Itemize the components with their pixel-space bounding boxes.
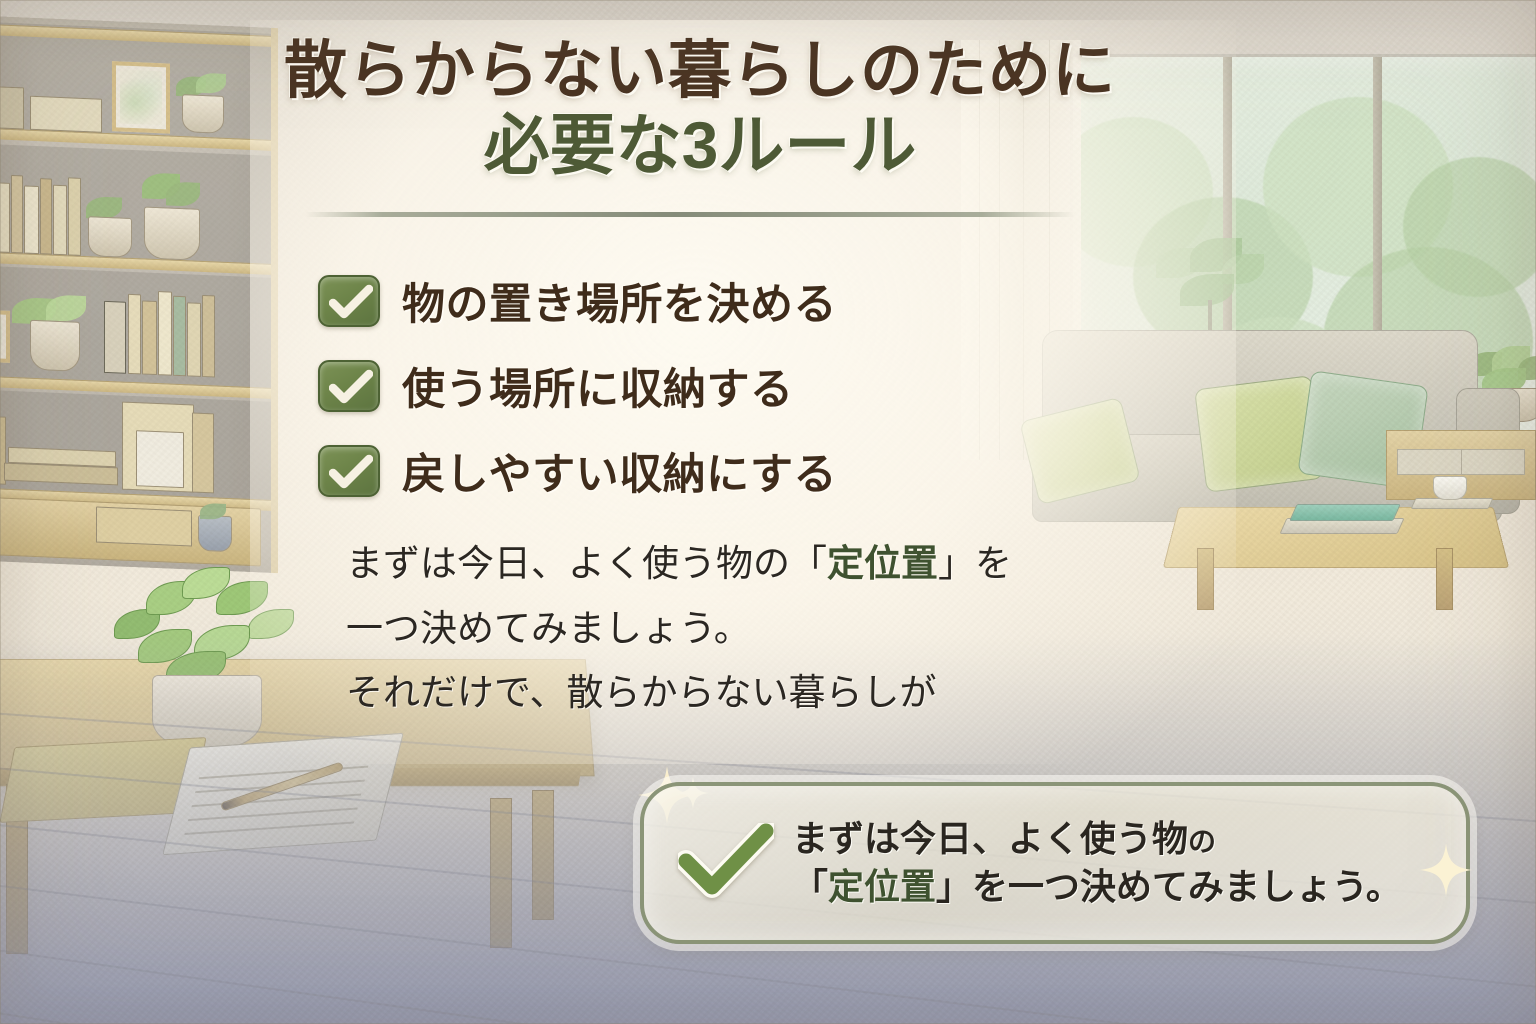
poster-canvas: 散らからない暮らしのために 必要な3ルール 物の置き場所を決める <box>0 0 1536 1024</box>
poster-border <box>0 0 1536 1024</box>
